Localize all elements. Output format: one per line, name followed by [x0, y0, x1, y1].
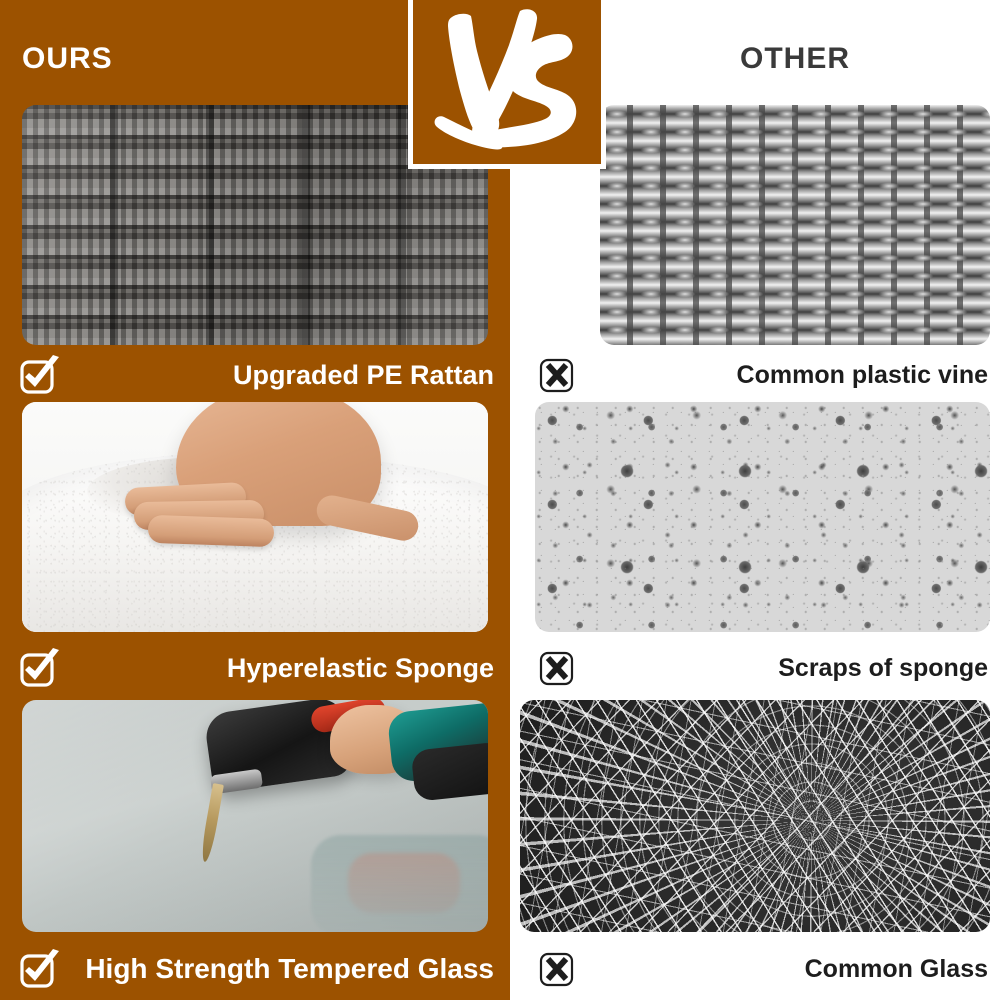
other-feature-row-2: Scraps of sponge: [510, 645, 1000, 691]
ours-feature-row-1: Upgraded PE Rattan: [0, 352, 510, 398]
vs-badge: [408, 0, 606, 169]
other-image-sponge-scraps: [535, 402, 990, 632]
check-icon: [18, 947, 62, 991]
check-icon: [18, 353, 62, 397]
ours-image-sponge: [22, 402, 488, 632]
ours-feature-label-1: Upgraded PE Rattan: [62, 362, 494, 389]
second-drill-body: [411, 742, 488, 802]
other-feature-row-1: Common plastic vine: [510, 352, 1000, 398]
other-image-broken-glass: [520, 700, 990, 932]
ours-feature-row-2: Hyperelastic Sponge: [0, 645, 510, 691]
page-title-other: OTHER: [600, 42, 990, 76]
other-feature-label-3: Common Glass: [579, 957, 988, 982]
check-icon: [18, 646, 62, 690]
ours-feature-label-3: High Strength Tempered Glass: [62, 955, 494, 983]
other-image-plastic-vine: [600, 105, 990, 345]
page-title-ours: OURS: [22, 42, 113, 76]
ours-feature-row-3: High Strength Tempered Glass: [0, 946, 510, 992]
comparison-infographic: OURS OTHER Upgraded PE Rattan: [0, 0, 1000, 1000]
vine-oval-highlights: [600, 105, 990, 345]
other-feature-row-3: Common Glass: [510, 946, 1000, 992]
finger-3: [147, 515, 274, 547]
cross-icon: [535, 947, 579, 991]
glass-crack-rings: [520, 700, 990, 932]
ours-image-tempered-glass: [22, 700, 488, 932]
drill-reflection-red: [348, 853, 460, 913]
cross-icon: [535, 353, 579, 397]
other-feature-label-2: Scraps of sponge: [579, 656, 988, 681]
vs-brush-icon: [432, 9, 582, 154]
other-feature-label-1: Common plastic vine: [579, 363, 988, 388]
sponge-fine-pores: [535, 402, 990, 632]
ours-feature-label-2: Hyperelastic Sponge: [62, 655, 494, 682]
cross-icon: [535, 646, 579, 690]
